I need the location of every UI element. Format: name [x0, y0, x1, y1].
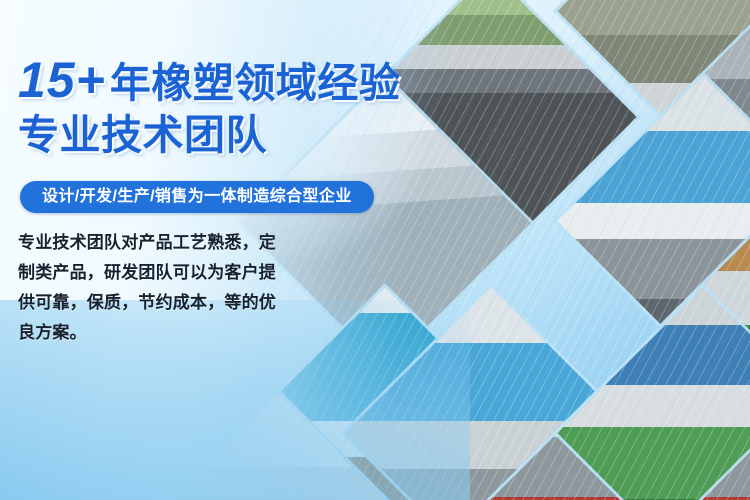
headline-line-2: 专业技术团队	[18, 112, 267, 158]
collage-tile-workers-assembly-line	[663, 0, 750, 53]
collage-tile-testing-equipment-operator	[451, 393, 742, 500]
collage-photo-testing-equipment-operator	[451, 393, 742, 500]
collage-photo-production-line-trays	[663, 393, 750, 500]
collage-photo-machine-operator-injection-press	[557, 0, 750, 157]
collage-tile-machine-operator-injection-press	[557, 0, 750, 157]
capability-badge-label: 设计/开发/生产/销售为一体制造综合型企业	[42, 189, 352, 205]
collage-photo-workers-assembly-line	[663, 0, 750, 53]
headline-line-1: 15+年橡塑领域经验	[18, 57, 400, 106]
collage-tile-production-line-trays	[663, 393, 750, 500]
collage-tile-factory-machine-row	[663, 0, 750, 261]
capability-badge: 设计/开发/生产/销售为一体制造综合型企业	[20, 181, 374, 213]
promo-banner: 15+年橡塑领域经验 专业技术团队 设计/开发/生产/销售为一体制造综合型企业 …	[0, 0, 750, 500]
description-paragraph: 专业技术团队对产品工艺熟悉，定制类产品，研发团队可以为客户提供可靠，保质，节约成…	[18, 228, 276, 348]
collage-photo-qc-inspection-benches	[557, 75, 750, 366]
collage-photo-factory-machine-row	[663, 0, 750, 261]
text-panel: 15+年橡塑领域经验 专业技术团队 设计/开发/生产/销售为一体制造综合型企业 …	[0, 0, 470, 500]
headline-line-1-rest: 年橡塑领域经验	[110, 60, 401, 106]
collage-photo-molding-press-station	[557, 287, 750, 500]
collage-photo-warehouse-green-floor	[663, 179, 750, 470]
collage-tile-qc-inspection-benches	[557, 75, 750, 366]
collage-tile-warehouse-green-floor	[663, 179, 750, 470]
collage-tile-molding-press-station	[557, 287, 750, 500]
years-number: 15+	[18, 52, 110, 108]
